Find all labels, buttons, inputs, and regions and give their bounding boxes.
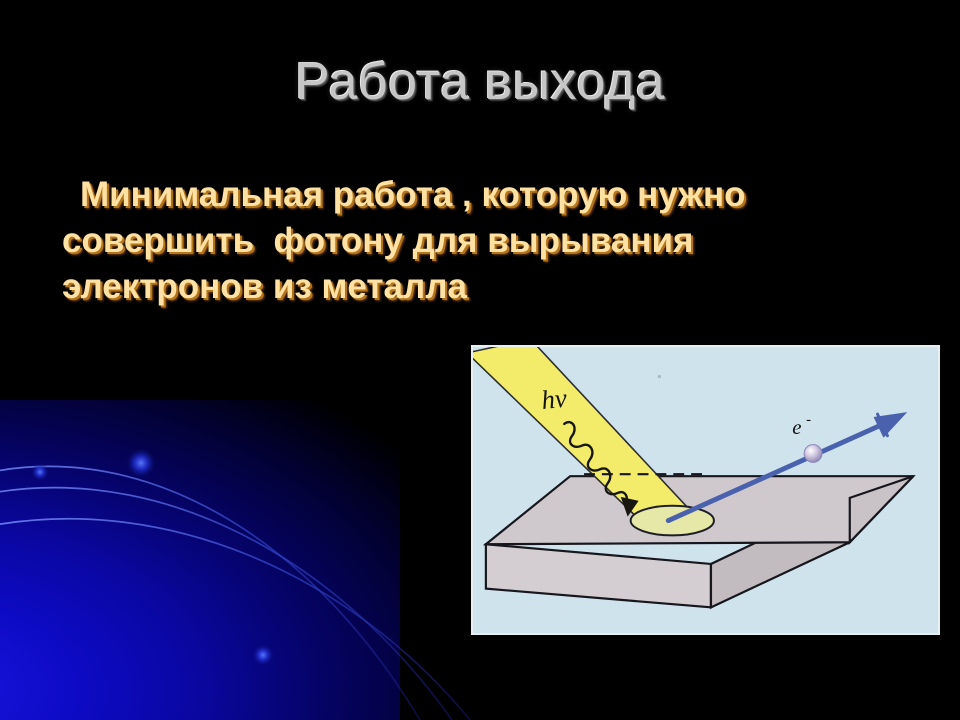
background-glow (0, 400, 400, 720)
arc-1 (0, 466, 420, 720)
slide-canvas: Работа выхода Минимальная работа , котор… (0, 0, 960, 720)
arc-dot (31, 463, 49, 481)
electron-sphere (804, 445, 822, 463)
arc-dot (252, 644, 274, 666)
photoelectric-effect-image: hν e - (471, 345, 940, 635)
slide-title: Работа выхода (0, 52, 960, 112)
body-line-3: электронов из металла (62, 264, 872, 310)
arc-2 (0, 488, 452, 720)
slide-body-text: Минимальная работа , которую нужно совер… (62, 172, 872, 310)
arc-group (0, 466, 470, 720)
photoelectric-effect-svg: hν e - (473, 347, 938, 633)
electron-label: e (792, 417, 801, 439)
photon-energy-label: hν (540, 383, 568, 415)
body-line-1: Минимальная работа , которую нужно (62, 172, 872, 218)
arc-3 (0, 519, 470, 720)
electron-charge-superscript: - (806, 412, 811, 428)
arc-dot (126, 448, 156, 478)
arc-dot-group (31, 448, 274, 666)
body-line-2: совершить фотону для вырывания (62, 218, 872, 264)
scan-speck (658, 375, 661, 378)
